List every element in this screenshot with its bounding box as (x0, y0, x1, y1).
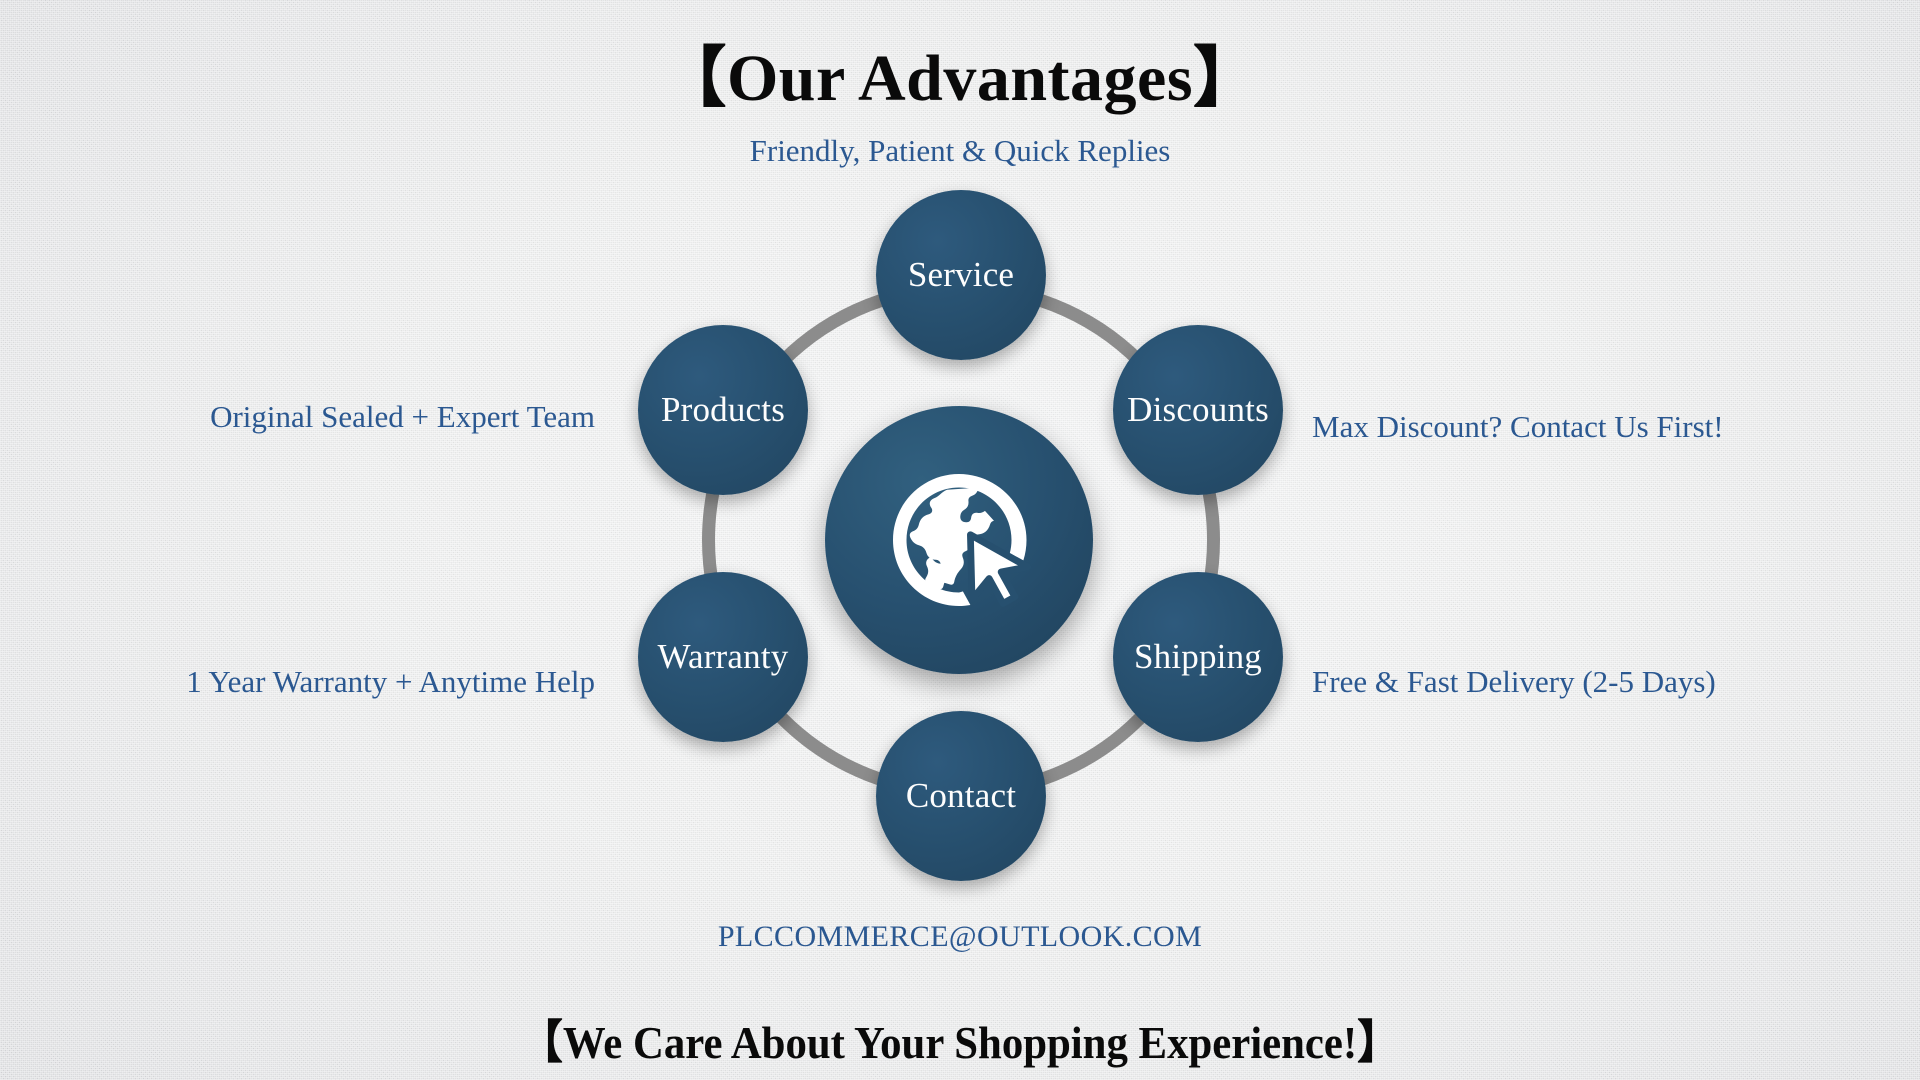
node-discounts[interactable]: Discounts (1113, 325, 1283, 495)
node-label-shipping: Shipping (1134, 637, 1262, 677)
node-label-discounts: Discounts (1127, 390, 1269, 430)
node-products[interactable]: Products (638, 325, 808, 495)
globe-cursor-icon (884, 465, 1034, 615)
advantages-infographic: 【Our Advantages】 Friendly, Patient & Qui… (0, 0, 1920, 1080)
caption-service: Friendly, Patient & Quick Replies (0, 134, 1920, 168)
caption-discounts: Max Discount? Contact Us First! (1312, 410, 1724, 444)
node-warranty[interactable]: Warranty (638, 572, 808, 742)
caption-products: Original Sealed + Expert Team (210, 400, 595, 434)
node-label-service: Service (908, 255, 1014, 295)
node-service[interactable]: Service (876, 190, 1046, 360)
footer-tagline: 【We Care About Your Shopping Experience!… (67, 1006, 1853, 1072)
node-label-contact: Contact (906, 776, 1016, 816)
hub-and-spoke-diagram: Products Service Discounts Shipping Cont… (625, 190, 1297, 890)
caption-warranty: 1 Year Warranty + Anytime Help (186, 665, 595, 699)
node-label-products: Products (661, 390, 785, 430)
node-shipping[interactable]: Shipping (1113, 572, 1283, 742)
page-title: 【Our Advantages】 (0, 24, 1920, 120)
caption-email: PLCCOMMERCE@OUTLOOK.COM (0, 920, 1920, 953)
caption-shipping: Free & Fast Delivery (2-5 Days) (1312, 665, 1716, 699)
hub-center (825, 406, 1093, 674)
node-contact[interactable]: Contact (876, 711, 1046, 881)
node-label-warranty: Warranty (658, 637, 789, 677)
